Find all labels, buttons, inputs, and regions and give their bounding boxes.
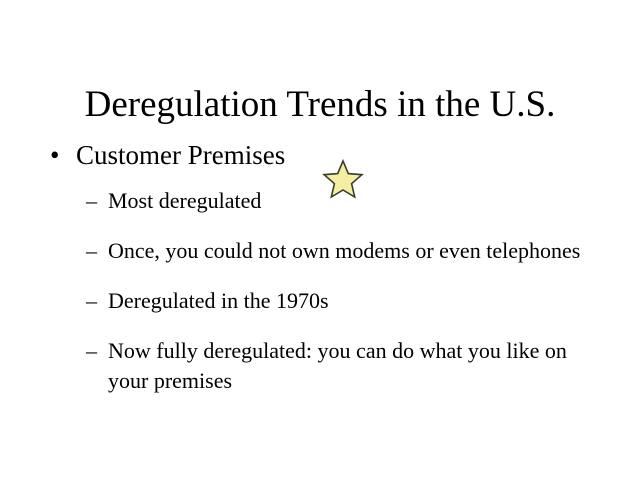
- list-item: – Deregulated in the 1970s: [0, 286, 640, 316]
- bullet-level1: • Customer Premises: [0, 138, 640, 172]
- list-item-label: Once, you could not own modems or even t…: [108, 238, 580, 263]
- slide: Deregulation Trends in the U.S. • Custom…: [0, 0, 640, 480]
- star-icon: [322, 158, 364, 200]
- list-item: – Most deregulated: [0, 186, 640, 216]
- list-item: – Now fully deregulated: you can do what…: [0, 336, 640, 396]
- slide-body: • Customer Premises – Most deregulated –…: [0, 138, 640, 416]
- bullet-level1-label: Customer Premises: [76, 140, 285, 170]
- bullet-dash-icon: –: [86, 236, 97, 266]
- bullet-level2-list: – Most deregulated – Once, you could not…: [0, 186, 640, 396]
- bullet-dash-icon: –: [86, 336, 97, 366]
- bullet-dot-icon: •: [50, 138, 59, 172]
- list-item: – Once, you could not own modems or even…: [0, 236, 640, 266]
- list-item-label: Deregulated in the 1970s: [108, 288, 329, 313]
- list-item-label: Now fully deregulated: you can do what y…: [108, 338, 567, 393]
- list-item-label: Most deregulated: [108, 188, 261, 213]
- page-title: Deregulation Trends in the U.S.: [0, 83, 640, 127]
- bullet-dash-icon: –: [86, 186, 97, 216]
- bullet-dash-icon: –: [86, 286, 97, 316]
